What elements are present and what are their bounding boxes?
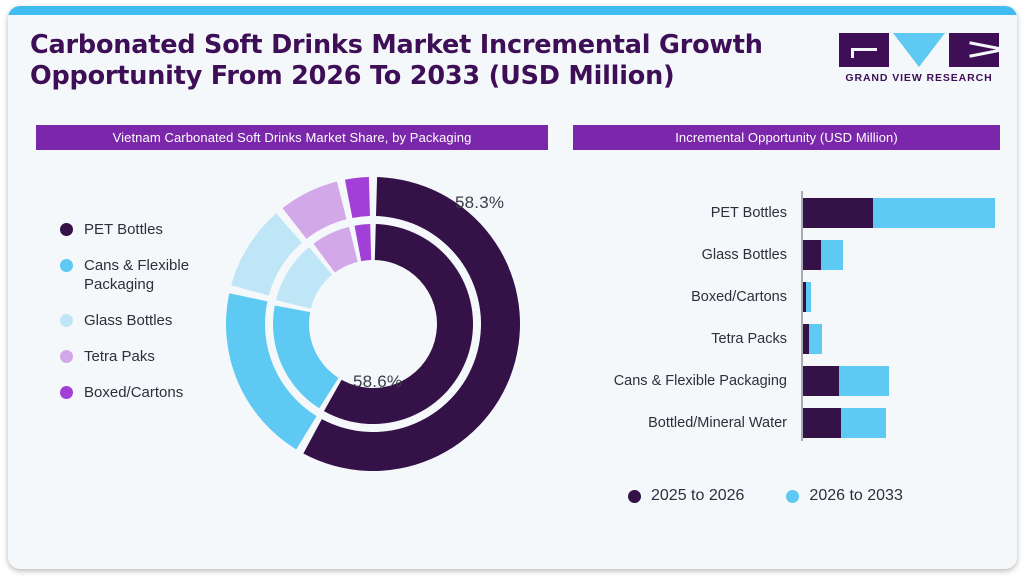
legend-label: 2026 to 2033 — [809, 487, 902, 505]
logo-left-block-icon — [839, 33, 889, 67]
bar-chart-legend: 2025 to 2026 2026 to 2033 — [628, 487, 903, 505]
bar-segment — [809, 324, 822, 354]
bar-segment — [803, 198, 873, 228]
bar-row: PET Bottles — [583, 193, 1001, 233]
bar-track — [803, 408, 1001, 438]
donut-outer-data-label: 58.3% — [455, 193, 504, 213]
legend-item-2025-to-2026: 2025 to 2026 — [628, 487, 744, 505]
legend-label: Boxed/Cartons — [84, 383, 183, 402]
bar-category-label: Cans & Flexible Packaging — [583, 373, 795, 389]
donut-slice — [345, 177, 370, 218]
donut-legend: PET Bottles Cans & Flexible Packaging Gl… — [60, 220, 228, 419]
donut-svg — [213, 174, 533, 474]
nested-donut-chart — [213, 174, 533, 474]
legend-item-2026-to-2033: 2026 to 2033 — [786, 487, 902, 505]
bar-category-label: Glass Bottles — [583, 247, 795, 263]
donut-inner-data-label: 58.6% — [353, 372, 402, 392]
legend-dot-icon — [60, 386, 73, 399]
legend-item-pet-bottles: PET Bottles — [60, 220, 228, 239]
legend-label: Cans & Flexible Packaging — [84, 256, 228, 294]
bar-row: Tetra Packs — [583, 319, 1001, 359]
legend-label: Tetra Paks — [84, 347, 155, 366]
legend-label: Glass Bottles — [84, 311, 172, 330]
bar-track — [803, 366, 1001, 396]
donut-slice — [282, 181, 346, 238]
donut-slice — [355, 224, 372, 261]
bar-segment — [841, 408, 886, 438]
logo-wordmark: GRAND VIEW RESEARCH — [839, 72, 999, 84]
infographic-card: Carbonated Soft Drinks Market Incrementa… — [8, 6, 1017, 569]
legend-dot-icon — [60, 223, 73, 236]
page-title-line-2: Opportunity From 2026 To 2033 (USD Milli… — [30, 61, 790, 92]
page-title-line-1: Carbonated Soft Drinks Market Incrementa… — [30, 30, 790, 61]
logo-triangle-icon — [893, 33, 945, 67]
legend-item-glass-bottles: Glass Bottles — [60, 311, 228, 330]
bar-category-label: Bottled/Mineral Water — [583, 415, 795, 431]
logo-marks — [839, 33, 999, 67]
section-header-market-share: Vietnam Carbonated Soft Drinks Market Sh… — [36, 125, 548, 150]
bar-track — [803, 198, 1001, 228]
bar-track — [803, 282, 1001, 312]
legend-dot-icon — [60, 350, 73, 363]
bar-row: Cans & Flexible Packaging — [583, 361, 1001, 401]
legend-item-cans-flexible-packaging: Cans & Flexible Packaging — [60, 256, 228, 294]
bar-segment — [803, 240, 821, 270]
legend-label: 2025 to 2026 — [651, 487, 744, 505]
top-accent-strip — [8, 6, 1017, 15]
legend-dot-icon — [60, 259, 73, 272]
bar-category-label: PET Bottles — [583, 205, 795, 221]
bar-category-label: Tetra Packs — [583, 331, 795, 347]
bar-segment — [839, 366, 889, 396]
brand-logo: GRAND VIEW RESEARCH — [839, 33, 999, 84]
bar-segment — [803, 366, 839, 396]
bar-category-label: Boxed/Cartons — [583, 289, 795, 305]
bar-segment — [821, 240, 843, 270]
legend-item-boxed-cartons: Boxed/Cartons — [60, 383, 228, 402]
bar-segment — [803, 408, 841, 438]
legend-label: PET Bottles — [84, 220, 163, 239]
legend-dot-icon — [786, 490, 799, 503]
legend-item-tetra-paks: Tetra Paks — [60, 347, 228, 366]
bar-row: Boxed/Cartons — [583, 277, 1001, 317]
bar-row: Glass Bottles — [583, 235, 1001, 275]
logo-right-block-icon — [949, 33, 999, 67]
bar-segment — [873, 198, 995, 228]
bar-track — [803, 324, 1001, 354]
incremental-opportunity-bar-chart: PET BottlesGlass BottlesBoxed/CartonsTet… — [583, 191, 1001, 443]
legend-dot-icon — [60, 314, 73, 327]
bar-track — [803, 240, 1001, 270]
bar-row: Bottled/Mineral Water — [583, 403, 1001, 443]
section-header-incremental-opportunity: Incremental Opportunity (USD Million) — [573, 125, 1000, 150]
bar-segment — [806, 282, 811, 312]
page-title: Carbonated Soft Drinks Market Incrementa… — [30, 30, 790, 92]
legend-dot-icon — [628, 490, 641, 503]
